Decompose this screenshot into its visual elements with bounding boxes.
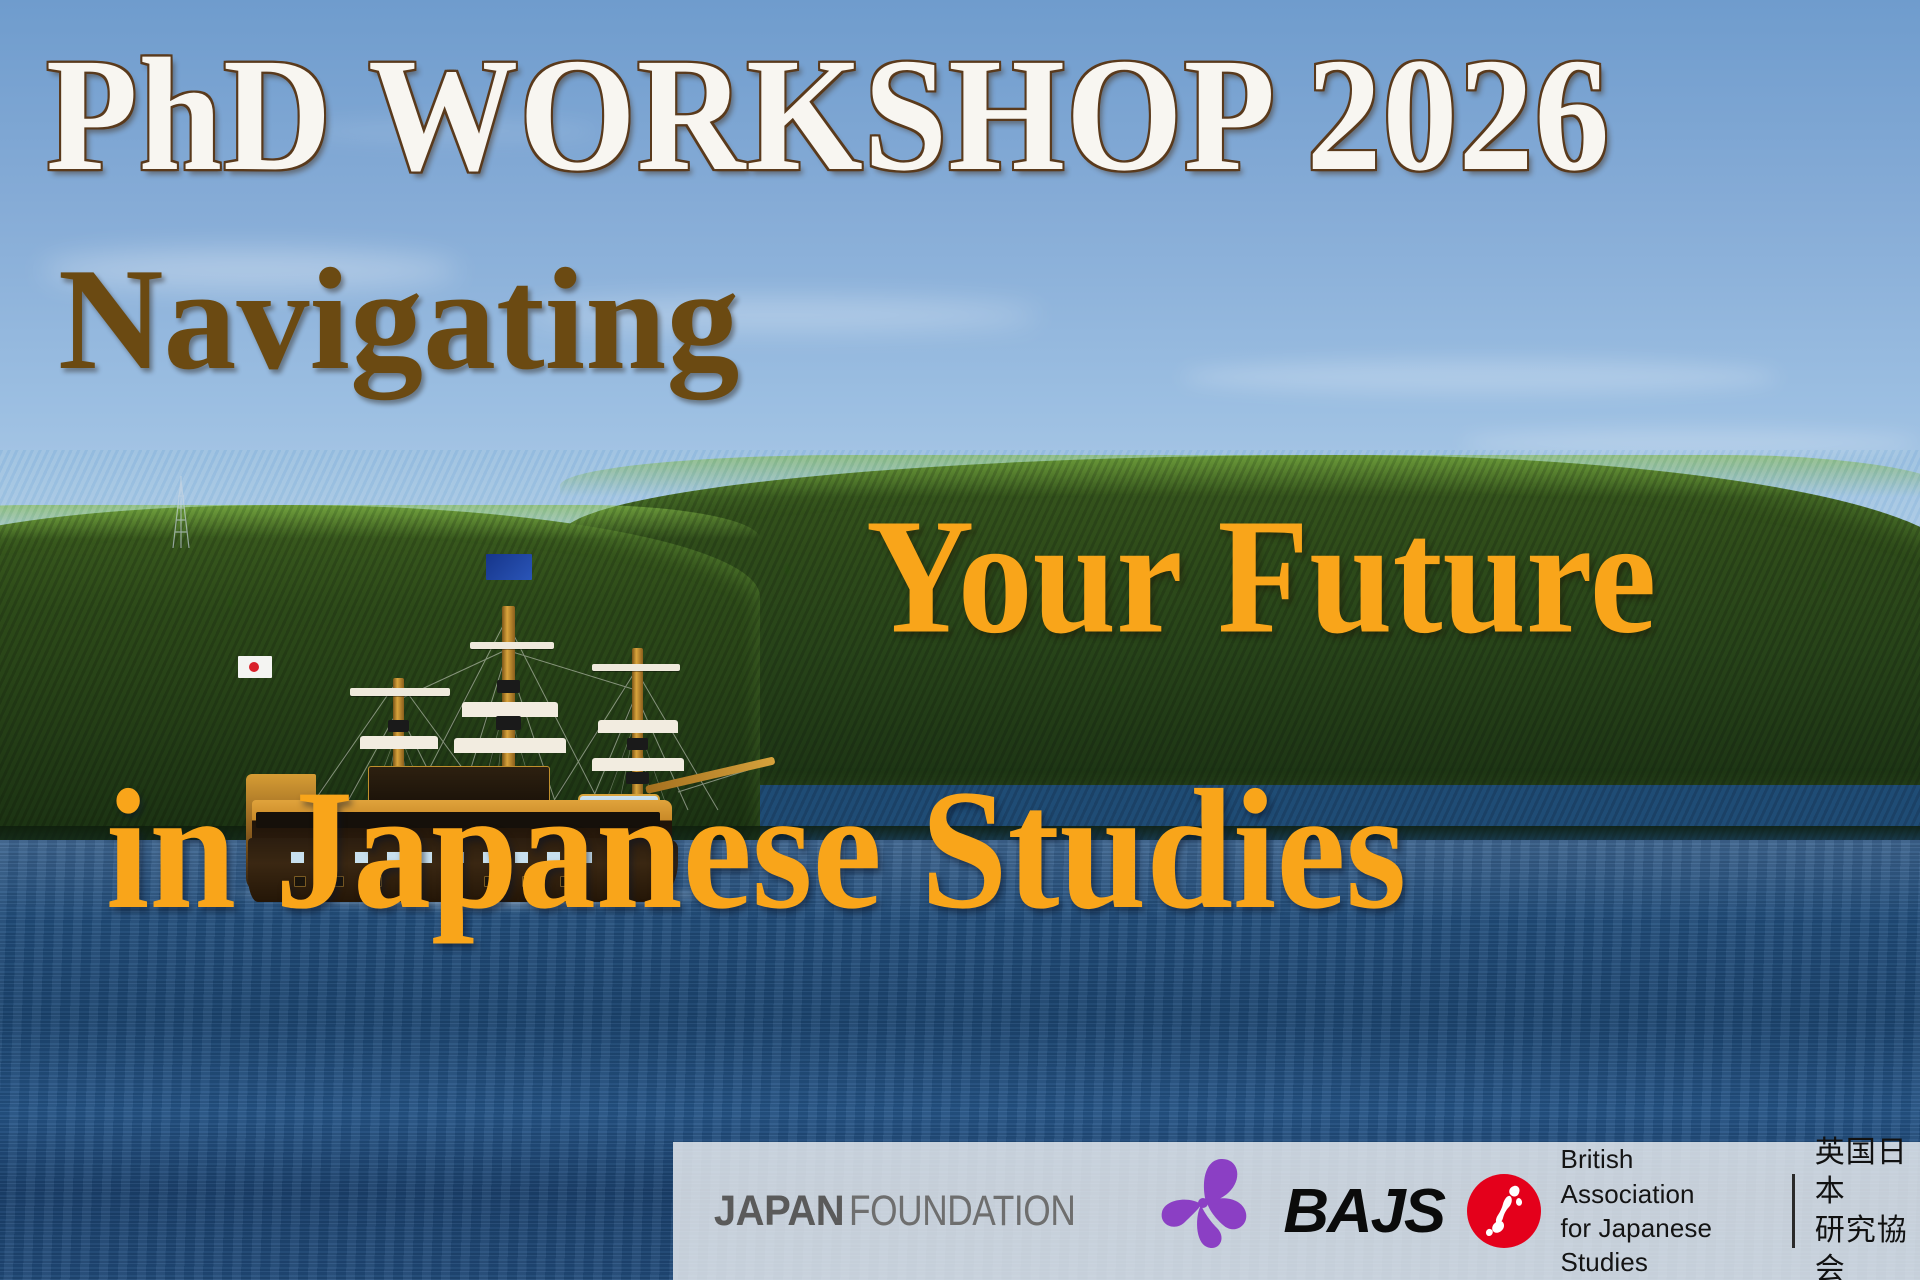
bajs-full-name: British Association for Japanese Studies [1561, 1142, 1770, 1279]
headline-line-navigating: Navigating [58, 246, 739, 392]
bajs-jp-line1: 英国日本 [1815, 1133, 1920, 1211]
sponsor-logo-bar: JAPAN FOUNDATION BAJS [673, 1142, 1920, 1280]
poster-canvas: PhD WORKSHOP 2026 Navigating Your Future… [0, 0, 1920, 1280]
butterfly-icon [1151, 1152, 1255, 1256]
headline-group: PhD WORKSHOP 2026 Navigating Your Future… [0, 0, 1920, 1280]
bajs-japanese-name: 英国日本 研究協会 [1815, 1133, 1920, 1280]
japan-foundation-bold-word: JAPAN [714, 1187, 844, 1236]
bajs-acronym: BAJS [1284, 1176, 1445, 1247]
japan-map-circle-icon [1467, 1174, 1541, 1248]
vertical-divider [1792, 1174, 1795, 1248]
poster-title: PhD WORKSHOP 2026 [46, 34, 1610, 196]
headline-line-in-japanese-studies: in Japanese Studies [106, 764, 1406, 936]
japan-foundation-logo[interactable]: JAPAN FOUNDATION [709, 1166, 1255, 1256]
bajs-name-line1: British Association [1561, 1142, 1770, 1211]
bajs-name-line2: for Japanese Studies [1561, 1211, 1770, 1280]
headline-line-your-future: Your Future [866, 494, 1656, 659]
japan-foundation-light-word: FOUNDATION [849, 1187, 1075, 1236]
bajs-jp-line2: 研究協会 [1815, 1211, 1920, 1280]
